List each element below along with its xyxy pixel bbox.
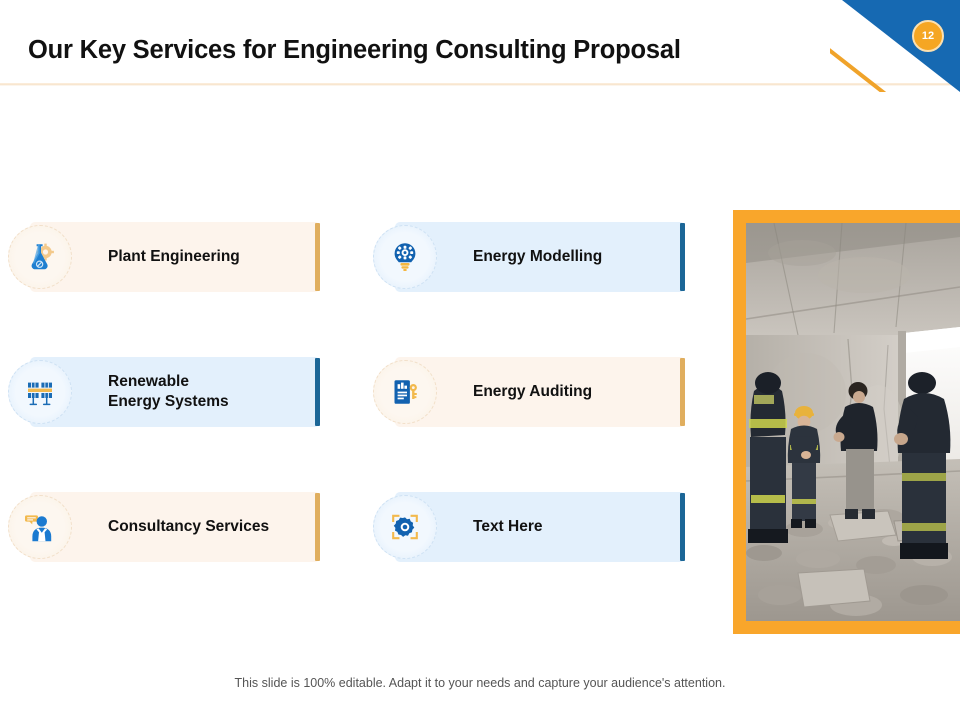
slide-number-badge: 12 <box>912 20 944 52</box>
flask-gear-icon <box>8 225 72 289</box>
service-label: Energy Auditing <box>473 357 592 427</box>
solar-panel-icon <box>8 360 72 424</box>
service-label: Plant Engineering <box>108 222 240 292</box>
card-accent-bar <box>680 493 685 561</box>
card-accent-bar <box>680 358 685 426</box>
service-card-plant-engineering[interactable]: Plant Engineering <box>30 222 320 292</box>
report-key-icon <box>373 360 437 424</box>
card-accent-bar <box>315 493 320 561</box>
service-card-energy-modelling[interactable]: Energy Modelling <box>395 222 685 292</box>
service-card-consultancy-services[interactable]: Consultancy Services <box>30 492 320 562</box>
gear-focus-icon <box>373 495 437 559</box>
slide-canvas: Our Key Services for Engineering Consult… <box>0 0 960 720</box>
page-title: Our Key Services for Engineering Consult… <box>28 36 681 65</box>
card-accent-bar <box>315 358 320 426</box>
editable-note: This slide is 100% editable. Adapt it to… <box>0 676 960 690</box>
corner-decoration <box>830 0 960 92</box>
service-label: Energy Modelling <box>473 222 602 292</box>
service-label: Renewable Energy Systems <box>108 357 229 427</box>
service-card-text-here[interactable]: Text Here <box>395 492 685 562</box>
card-accent-bar <box>315 223 320 291</box>
service-label: Text Here <box>473 492 543 562</box>
lightbulb-gear-icon <box>373 225 437 289</box>
site-inspection-photo <box>746 223 960 621</box>
corner-blue-triangle <box>842 0 960 92</box>
header-divider <box>0 83 960 86</box>
service-card-energy-auditing[interactable]: Energy Auditing <box>395 357 685 427</box>
slide-header: Our Key Services for Engineering Consult… <box>0 0 960 86</box>
service-card-renewable-energy-systems[interactable]: Renewable Energy Systems <box>30 357 320 427</box>
service-label: Consultancy Services <box>108 492 269 562</box>
consultant-person-icon <box>8 495 72 559</box>
photo-frame <box>733 210 960 634</box>
card-accent-bar <box>680 223 685 291</box>
